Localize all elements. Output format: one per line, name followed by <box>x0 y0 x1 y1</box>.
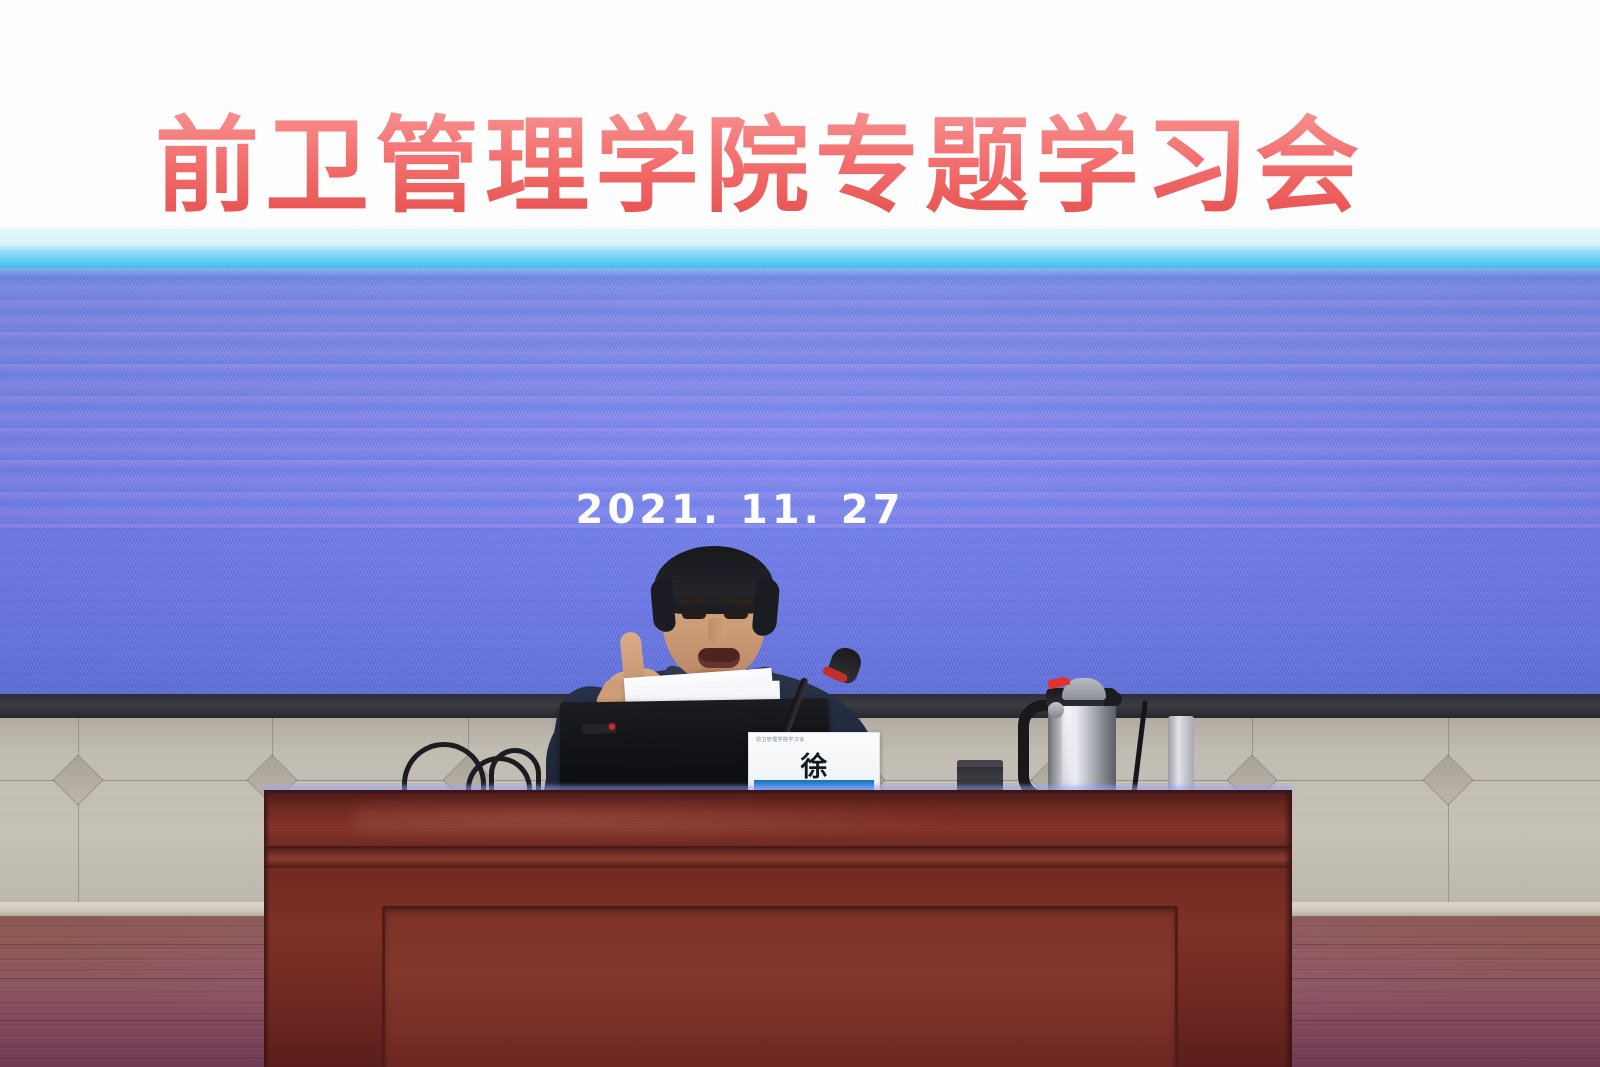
conference-photo: 前卫管理学院专题学习会 2021. 11. 27 <box>0 0 1600 1067</box>
hair-right-side <box>752 577 781 637</box>
hair-left-side <box>650 577 677 633</box>
presentation-title: 前卫管理学院专题学习会 <box>0 110 1520 222</box>
nameplate-subtitle: 前卫管理学院学习会 <box>756 736 805 743</box>
nose <box>708 618 726 644</box>
thermos-spout <box>1104 692 1122 706</box>
podium-left-edge <box>264 790 270 1067</box>
thermos-highlight <box>1062 704 1072 794</box>
podium-sheen <box>354 799 974 839</box>
podium-top-surface <box>264 790 1292 851</box>
mouth <box>698 648 740 668</box>
eye-left <box>682 610 706 619</box>
thermos-handle-hinge <box>1048 702 1064 718</box>
eye-right <box>724 610 748 619</box>
secondary-flask <box>1168 716 1194 796</box>
thermos-flask <box>1018 678 1120 800</box>
podium-desk <box>264 790 1292 1067</box>
tea-cup-lid <box>957 760 1003 767</box>
presentation-date: 2021. 11. 27 <box>0 487 1480 533</box>
podium-molding <box>264 846 1292 868</box>
thinkpad-red-dot-icon <box>609 724 615 730</box>
podium-raised-panel <box>382 906 1178 1067</box>
podium-right-edge <box>1284 790 1292 1067</box>
